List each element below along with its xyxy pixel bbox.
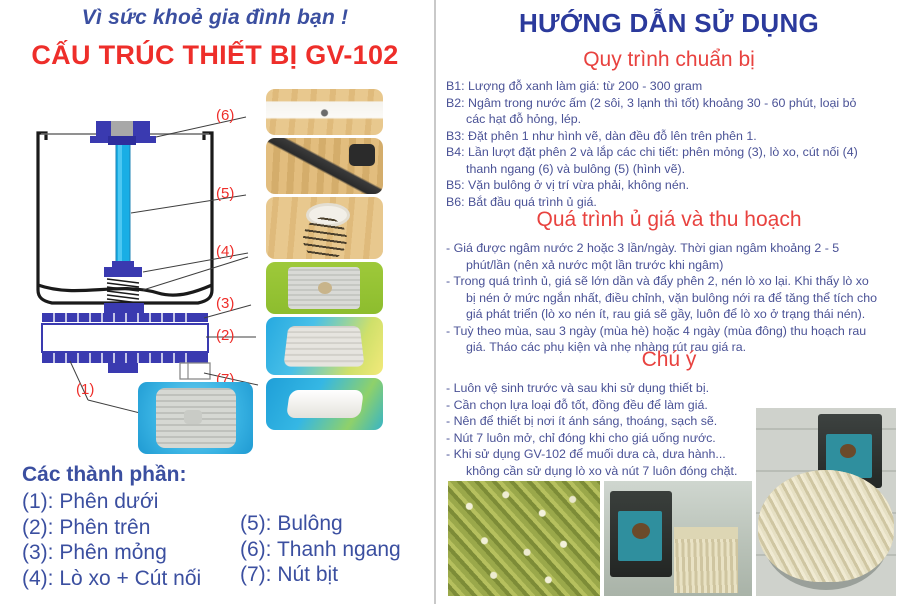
section-heading-preparation: Quy trình chuẩn bị xyxy=(440,48,898,72)
list-item: (7): Nút bịt xyxy=(240,562,401,588)
sprouting-beans-photo xyxy=(448,481,600,596)
text-line: - Tuỳ theo mùa, sau 3 ngày (mùa hè) hoặc… xyxy=(446,323,898,340)
slogan-text: Vì sức khoẻ gia đình bạn ! xyxy=(0,6,430,30)
lo-xo-cut-noi-photo xyxy=(266,197,383,259)
callout-1: (1) xyxy=(76,381,94,398)
callout-5: (5) xyxy=(216,185,234,202)
text-line: - Giá được ngâm nước 2 hoặc 3 lần/ngày. … xyxy=(446,240,898,257)
device-structure-diagram: (6) (5) (4) (3) (2) (7) (1) xyxy=(8,85,433,460)
list-item: (6): Thanh ngang xyxy=(240,537,401,563)
text-line: phút/lần (nên xả nước một lần trước khi … xyxy=(446,257,898,274)
page-title: CẤU TRÚC THIẾT BỊ GV-102 xyxy=(0,40,430,71)
instructions-title: HƯỚNG DẪN SỬ DỤNG xyxy=(440,8,898,39)
legend-heading: Các thành phần: xyxy=(22,463,432,487)
bulong-photo xyxy=(266,138,383,194)
text-line: bị nén ở mức ngắn nhất, điều chỉnh, vặn … xyxy=(446,290,898,307)
list-item: (1): Phên dưới xyxy=(22,489,240,515)
text-line: B2: Ngâm trong nước ấm (2 sôi, 3 lạnh th… xyxy=(446,95,898,112)
phen-duoi-photo xyxy=(138,382,253,454)
harvested-sprouts-photo xyxy=(756,408,896,596)
callout-3: (3) xyxy=(216,295,234,312)
list-item: (4): Lò xo + Cút nối xyxy=(22,566,240,592)
text-line: thanh ngang (6) và bulông (5) (hình vẽ). xyxy=(446,161,898,178)
phen-mong-photo xyxy=(266,262,383,314)
device-with-sprout-block-photo xyxy=(604,481,752,596)
list-item: (3): Phên mỏng xyxy=(22,540,240,566)
callout-2: (2) xyxy=(216,327,234,344)
left-panel: Vì sức khoẻ gia đình bạn ! CẤU TRÚC THIẾ… xyxy=(0,0,434,604)
section-heading-notes: Chú ý xyxy=(440,348,898,372)
legend-column-left: (1): Phên dưới (2): Phên trên (3): Phên … xyxy=(22,489,240,591)
incubation-notes: - Giá được ngâm nước 2 hoặc 3 lần/ngày. … xyxy=(446,240,898,356)
components-legend: Các thành phần: (1): Phên dưới (2): Phên… xyxy=(22,463,432,591)
text-line: - Luôn vệ sinh trước và sau khi sử dụng … xyxy=(446,380,898,397)
list-item: (2): Phên trên xyxy=(22,515,240,541)
list-item: (5): Bulông xyxy=(240,511,401,537)
text-line: B4: Lần lượt đặt phên 2 và lắp các chi t… xyxy=(446,144,898,161)
phen-tren-photo xyxy=(266,317,383,375)
section-heading-incubation: Quá trình ủ giá và thu hoạch xyxy=(440,208,898,232)
right-panel: HƯỚNG DẪN SỬ DỤNG Quy trình chuẩn bị B1:… xyxy=(440,0,900,604)
text-line: giá phát triển (lò xo nén ít, rau giá sẽ… xyxy=(446,306,898,323)
poster-page: Vì sức khoẻ gia đình bạn ! CẤU TRÚC THIẾ… xyxy=(0,0,900,604)
text-line: các hạt đỗ hỏng, lép. xyxy=(446,111,898,128)
text-line: B3: Đặt phên 1 như hình vẽ, dàn đều đỗ l… xyxy=(446,128,898,145)
text-line: B5: Vặn bulông ở vị trí vừa phải, không … xyxy=(446,177,898,194)
callout-4: (4) xyxy=(216,243,234,260)
nut-bit-photo xyxy=(266,378,383,430)
legend-column-right: (5): Bulông (6): Thanh ngang (7): Nút bị… xyxy=(240,489,401,591)
preparation-steps: B1: Lượng đỗ xanh làm giá: từ 200 - 300 … xyxy=(446,78,898,210)
text-line: B1: Lượng đỗ xanh làm giá: từ 200 - 300 … xyxy=(446,78,898,95)
callout-6: (6) xyxy=(216,107,234,124)
panel-divider xyxy=(434,0,436,604)
text-line: - Trong quá trình ủ, giá sẽ lớn dần và đ… xyxy=(446,273,898,290)
thanh-ngang-photo xyxy=(266,89,383,135)
